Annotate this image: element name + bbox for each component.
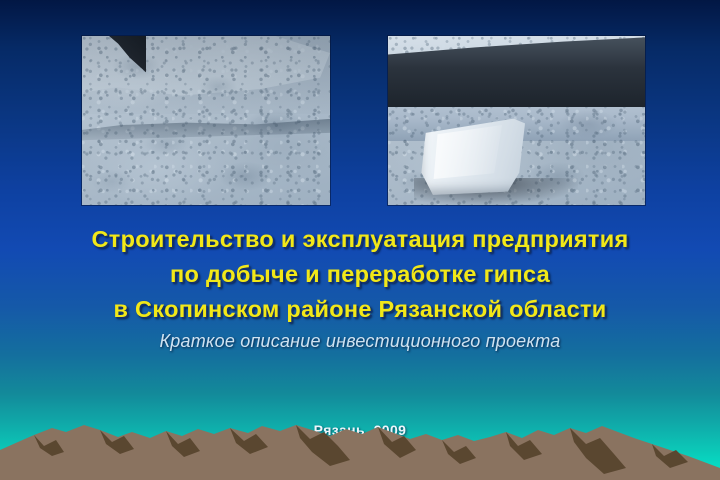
slide-subtitle: Краткое описание инвестиционного проекта	[0, 327, 720, 355]
mountain-silhouette	[0, 416, 720, 480]
title-line-2: по добыче и переработке гипса	[0, 257, 720, 292]
photo-lower-shading	[82, 36, 330, 114]
presentation-slide: Строительство и эксплуатация предприятия…	[0, 0, 720, 480]
title-line-3: в Скопинском районе Рязанской области	[0, 292, 720, 327]
gypsum-outcrop-photo	[82, 36, 330, 205]
title-line-1: Строительство и эксплуатация предприятия	[0, 222, 720, 257]
title-block: Строительство и эксплуатация предприятия…	[0, 222, 720, 355]
gypsum-core-sample-photo	[388, 36, 645, 205]
